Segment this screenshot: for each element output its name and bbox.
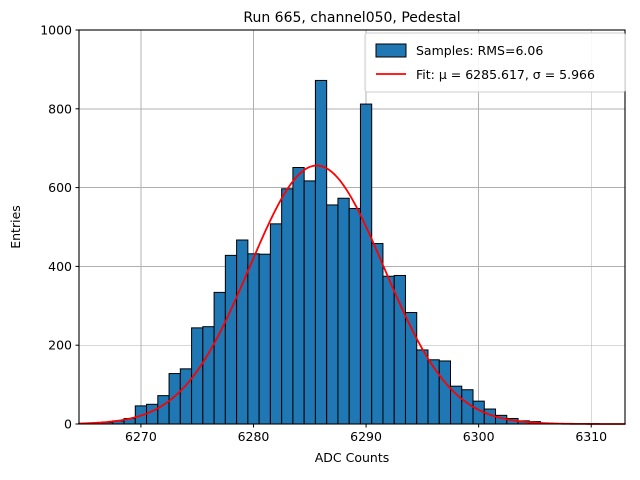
histogram-bar xyxy=(237,240,248,424)
histogram-bar xyxy=(360,104,371,424)
histogram-bar xyxy=(338,198,349,424)
histogram-bar xyxy=(259,254,270,424)
histogram-bar xyxy=(394,275,405,424)
page-title: Run 665, channel050, Pedestal xyxy=(243,10,460,26)
histogram-bar xyxy=(214,292,225,424)
x-axis-label: ADC Counts xyxy=(315,450,390,465)
x-tick-label: 6300 xyxy=(463,429,495,444)
histogram-bar xyxy=(293,168,304,424)
histogram-bar xyxy=(383,276,394,424)
histogram-bar xyxy=(282,189,293,424)
matplotlib-figure: 6270628062906300631002004006008001000 Ru… xyxy=(0,0,640,480)
histogram-bar xyxy=(203,327,214,424)
y-tick-label: 1000 xyxy=(40,23,72,38)
histogram-bar xyxy=(372,244,383,424)
legend-label-samples: Samples: RMS=6.06 xyxy=(416,43,543,58)
y-axis-label: Entries xyxy=(8,205,23,249)
histogram-bar xyxy=(439,361,450,424)
histogram-bar xyxy=(451,386,462,424)
y-tick-label: 200 xyxy=(48,338,72,353)
histogram-bar xyxy=(462,390,473,424)
histogram-bar xyxy=(180,369,191,424)
x-tick-label: 6310 xyxy=(575,429,607,444)
histogram-bar xyxy=(225,255,236,424)
legend-box xyxy=(365,33,625,92)
histogram-bar xyxy=(248,254,259,424)
y-tick-label: 0 xyxy=(64,417,72,432)
y-tick-label: 800 xyxy=(48,101,72,116)
legend[interactable]: Samples: RMS=6.06Fit: μ = 6285.617, σ = … xyxy=(365,33,625,92)
histogram-bar xyxy=(428,360,439,424)
y-tick-label: 600 xyxy=(48,180,72,195)
histogram-bar xyxy=(417,350,428,424)
histogram-bars xyxy=(102,80,541,424)
histogram-bar xyxy=(270,224,281,424)
histogram-bar xyxy=(349,208,360,424)
legend-label-fit: Fit: μ = 6285.617, σ = 5.966 xyxy=(416,67,595,82)
y-tick-label: 400 xyxy=(48,259,72,274)
histogram-bar xyxy=(327,205,338,424)
x-tick-label: 6280 xyxy=(238,429,270,444)
histogram-bar xyxy=(304,181,315,424)
histogram-bar xyxy=(158,396,169,424)
x-tick-label: 6270 xyxy=(125,429,157,444)
histogram-bar xyxy=(315,80,326,424)
x-tick-label: 6290 xyxy=(350,429,382,444)
legend-swatch-samples xyxy=(376,44,406,57)
chart-canvas: 6270628062906300631002004006008001000 Ru… xyxy=(0,0,640,480)
histogram-bar xyxy=(147,404,158,424)
